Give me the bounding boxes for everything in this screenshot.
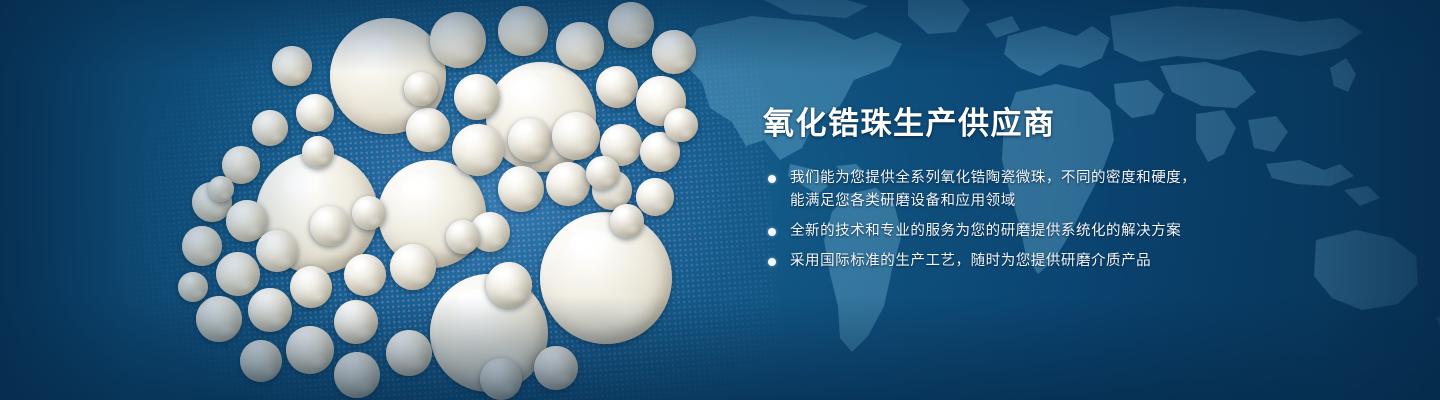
bullet-dot-icon xyxy=(768,228,776,236)
list-item: 全新的技术和专业的服务为您的研磨提供系统化的解决方案 xyxy=(763,220,1383,243)
bullet-dot-icon xyxy=(768,258,776,266)
banner-text-block: 氧化锆珠生产供应商 我们能为您提供全系列氧化锆陶瓷微珠，不同的密度和硬度， 能满… xyxy=(763,106,1383,273)
feature-list: 我们能为您提供全系列氧化锆陶瓷微珠，不同的密度和硬度， 能满足您各类研磨设备和应… xyxy=(763,167,1383,273)
promo-banner: 氧化锆珠生产供应商 我们能为您提供全系列氧化锆陶瓷微珠，不同的密度和硬度， 能满… xyxy=(0,0,1440,400)
bullet-dot-icon xyxy=(768,175,776,183)
page-title: 氧化锆珠生产供应商 xyxy=(763,106,1383,143)
list-item: 我们能为您提供全系列氧化锆陶瓷微珠，不同的密度和硬度， 能满足您各类研磨设备和应… xyxy=(763,167,1383,213)
list-item-line: 我们能为您提供全系列氧化锆陶瓷微珠，不同的密度和硬度， xyxy=(790,167,1383,190)
list-item-line: 采用国际标准的生产工艺，随时为您提供研磨介质产品 xyxy=(790,250,1383,273)
list-item-line: 能满足您各类研磨设备和应用领域 xyxy=(790,190,1383,213)
list-item: 采用国际标准的生产工艺，随时为您提供研磨介质产品 xyxy=(763,250,1383,273)
list-item-line: 全新的技术和专业的服务为您的研磨提供系统化的解决方案 xyxy=(790,220,1383,243)
